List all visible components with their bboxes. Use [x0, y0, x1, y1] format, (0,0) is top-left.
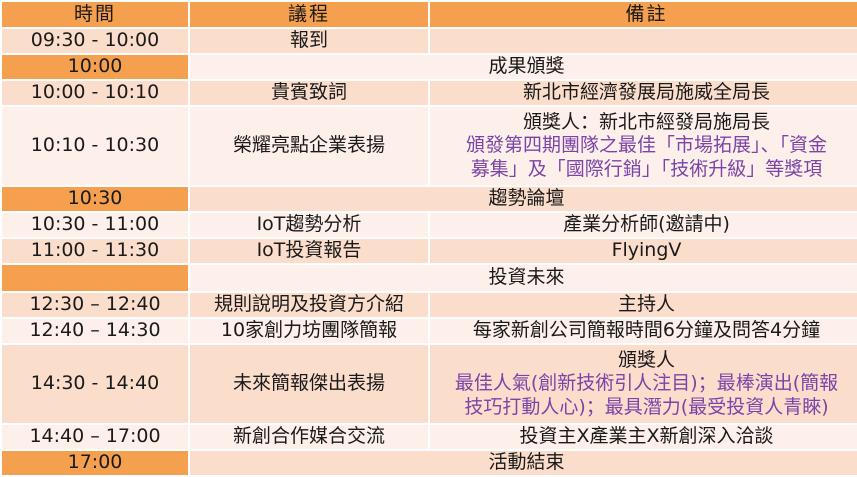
- cell-note: 主持人: [430, 293, 857, 317]
- cell-note: 頒獎人 最佳人氣(創新技術引人注目)；最棒演出(簡報 技巧打動人心)；最具潛力(…: [430, 345, 857, 423]
- note-detail-line-1: 頒發第四期團隊之最佳「市場拓展」、「資金: [434, 134, 857, 157]
- note-lead: 頒獎人: [434, 349, 857, 372]
- cell-topic: 榮耀亮點企業表揚: [190, 107, 428, 185]
- table-row-section: 17:00 活動結束: [2, 451, 857, 475]
- cell-note: [430, 29, 857, 53]
- cell-topic: 新創合作媒合交流: [190, 425, 428, 449]
- cell-time-marker: 10:00: [2, 55, 188, 79]
- table-row-section: 投資未來: [2, 265, 857, 291]
- cell-time: 10:10 - 10:30: [2, 107, 188, 185]
- table-row: 14:30 - 14:40 未來簡報傑出表揚 頒獎人 最佳人氣(創新技術引人注目…: [2, 345, 857, 423]
- table-row-section: 10:00 成果頒獎: [2, 55, 857, 79]
- cell-time: 10:30 - 11:00: [2, 213, 188, 237]
- cell-section-title: 趨勢論壇: [190, 187, 857, 211]
- note-detail-line-1: 最佳人氣(創新技術引人注目)；最棒演出(簡報: [434, 372, 857, 395]
- table-row: 14:40 – 17:00 新創合作媒合交流 投資主X產業主X新創深入洽談: [2, 425, 857, 449]
- column-header-time: 時間: [2, 2, 188, 27]
- cell-time: 10:00 - 10:10: [2, 81, 188, 105]
- cell-topic: 10家創力坊團隊簡報: [190, 319, 428, 343]
- table-row: 11:00 - 11:30 IoT投資報告 FlyingV: [2, 239, 857, 263]
- cell-section-title: 成果頒獎: [190, 55, 857, 79]
- schedule-table: 時間 議程 備註 09:30 - 10:00 報到 10:00 成果頒獎 10:…: [0, 0, 857, 477]
- note-lead: 頒獎人：新北市經發局施局長: [434, 111, 857, 134]
- column-header-topic: 議程: [190, 2, 428, 27]
- cell-time-marker: 10:30: [2, 187, 188, 211]
- table-row-section: 10:30 趨勢論壇: [2, 187, 857, 211]
- cell-note: FlyingV: [430, 239, 857, 263]
- table-body: 09:30 - 10:00 報到 10:00 成果頒獎 10:00 - 10:1…: [2, 29, 857, 475]
- table-row: 12:30 – 12:40 規則說明及投資方介紹 主持人: [2, 293, 857, 317]
- table-row: 10:30 - 11:00 IoT趨勢分析 產業分析師(邀請中): [2, 213, 857, 237]
- cell-note: 新北市經濟發展局施威全局長: [430, 81, 857, 105]
- cell-time-marker: 17:00: [2, 451, 188, 475]
- cell-topic: 貴賓致詞: [190, 81, 428, 105]
- cell-note: 頒獎人：新北市經發局施局長 頒發第四期團隊之最佳「市場拓展」、「資金 募集」及「…: [430, 107, 857, 185]
- header-row: 時間 議程 備註: [2, 2, 857, 27]
- note-detail-line-2: 技巧打動人心)；最具潛力(最受投資人青睞): [434, 396, 857, 419]
- cell-topic: 未來簡報傑出表揚: [190, 345, 428, 423]
- cell-note: 產業分析師(邀請中): [430, 213, 857, 237]
- column-header-note: 備註: [430, 2, 857, 27]
- cell-section-title: 投資未來: [190, 265, 857, 291]
- table-row: 10:10 - 10:30 榮耀亮點企業表揚 頒獎人：新北市經發局施局長 頒發第…: [2, 107, 857, 185]
- cell-section-title: 活動結束: [190, 451, 857, 475]
- cell-topic: 報到: [190, 29, 428, 53]
- cell-note: 投資主X產業主X新創深入洽談: [430, 425, 857, 449]
- cell-time: 09:30 - 10:00: [2, 29, 188, 53]
- cell-time: 12:40 – 14:30: [2, 319, 188, 343]
- table-row: 12:40 – 14:30 10家創力坊團隊簡報 每家新創公司簡報時間6分鐘及問…: [2, 319, 857, 343]
- table-row: 10:00 - 10:10 貴賓致詞 新北市經濟發展局施威全局長: [2, 81, 857, 105]
- cell-note: 每家新創公司簡報時間6分鐘及問答4分鐘: [430, 319, 857, 343]
- note-block: 頒獎人：新北市經發局施局長 頒發第四期團隊之最佳「市場拓展」、「資金 募集」及「…: [434, 111, 857, 181]
- cell-topic: IoT趨勢分析: [190, 213, 428, 237]
- note-block: 頒獎人 最佳人氣(創新技術引人注目)；最棒演出(簡報 技巧打動人心)；最具潛力(…: [434, 349, 857, 419]
- note-detail-line-2: 募集」及「國際行銷」「技術升級」等獎項: [434, 158, 857, 181]
- cell-time: 14:40 – 17:00: [2, 425, 188, 449]
- cell-time-empty: [2, 265, 188, 291]
- table-header: 時間 議程 備註: [2, 2, 857, 27]
- table-row: 09:30 - 10:00 報到: [2, 29, 857, 53]
- cell-time: 12:30 – 12:40: [2, 293, 188, 317]
- cell-time: 11:00 - 11:30: [2, 239, 188, 263]
- cell-topic: IoT投資報告: [190, 239, 428, 263]
- cell-time: 14:30 - 14:40: [2, 345, 188, 423]
- cell-topic: 規則說明及投資方介紹: [190, 293, 428, 317]
